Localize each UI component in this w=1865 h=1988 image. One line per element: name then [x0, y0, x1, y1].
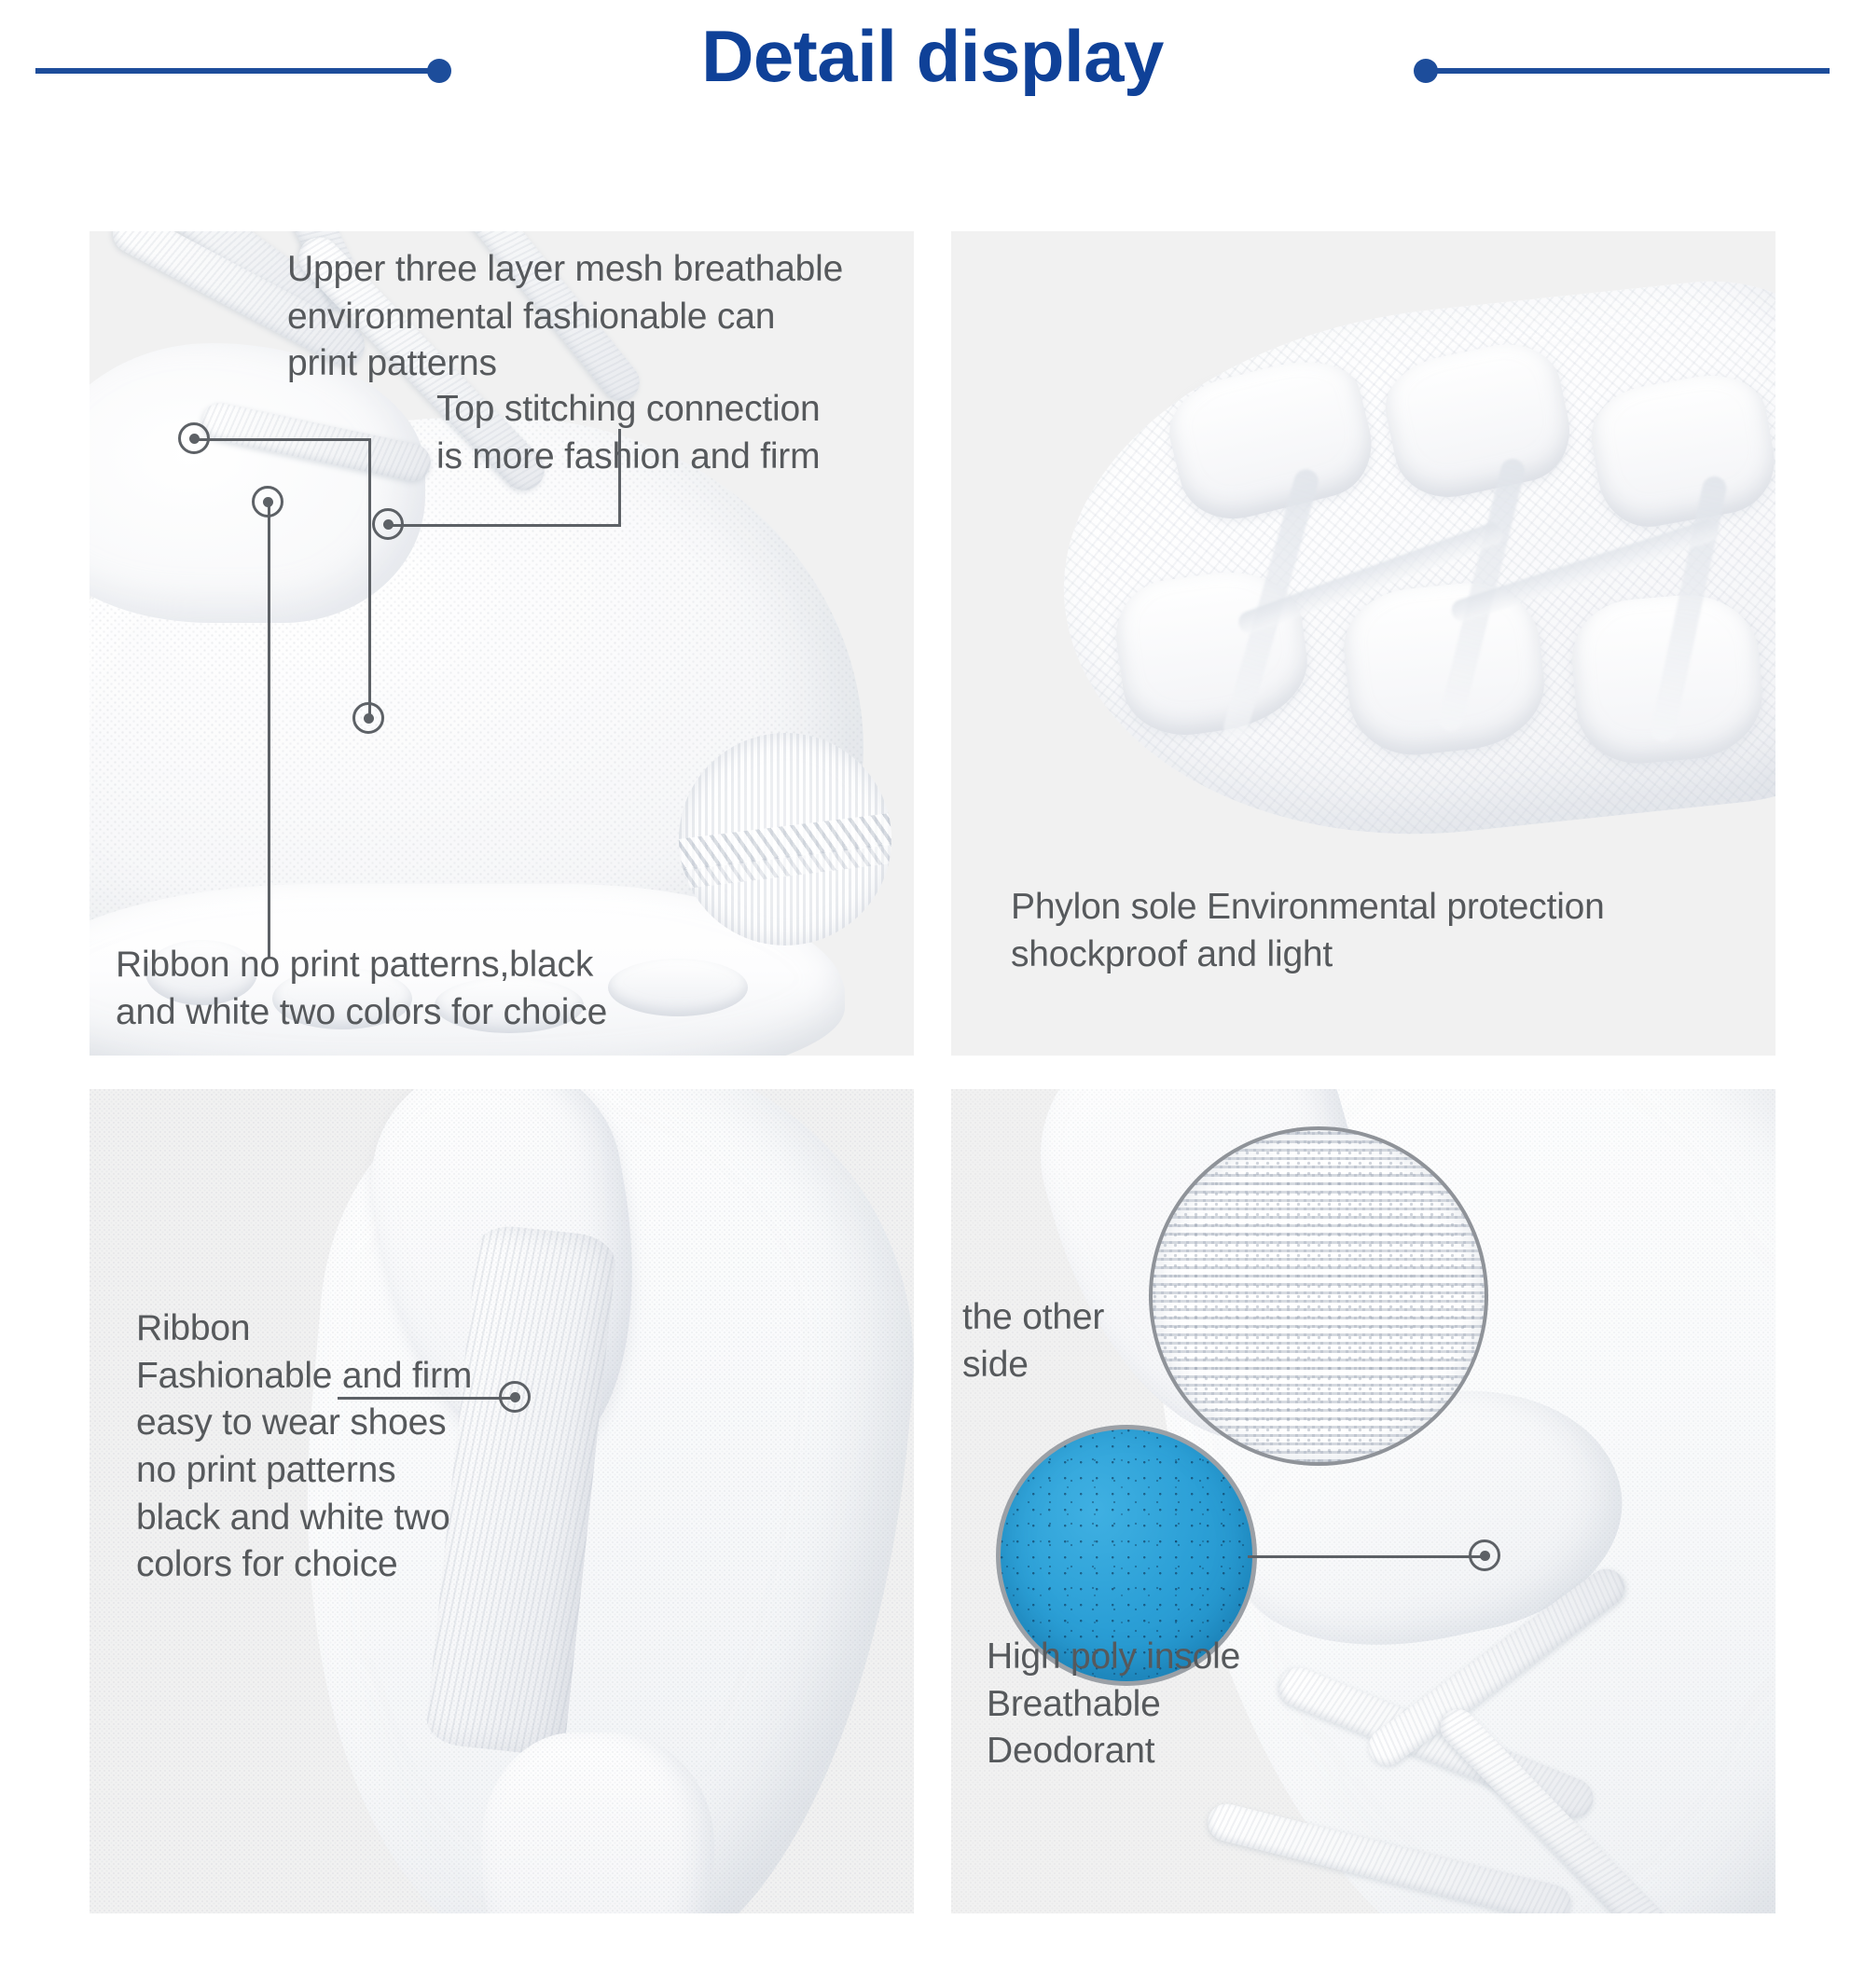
caption-high-poly-insole: High poly insole Breathable Deodorant	[987, 1634, 1378, 1775]
leader-line-stitch-h	[388, 524, 621, 527]
page-title: Detail display	[0, 17, 1865, 97]
panel-insole-mesh	[951, 1089, 1775, 1913]
stitching-zoom-circle	[679, 733, 891, 946]
callout-marker-stitch[interactable]	[372, 508, 404, 540]
callout-marker-upper[interactable]	[178, 422, 210, 454]
caption-other-side: the other side	[962, 1294, 1186, 1388]
callout-marker-upper-end[interactable]	[352, 702, 384, 734]
tongue-insole-photo	[951, 1089, 1775, 1913]
caption-ribbon-print: Ribbon no print patterns,black and white…	[116, 942, 824, 1036]
leader-line-ribbon-v	[268, 502, 270, 959]
caption-top-stitching: Top stitching connection is more fashion…	[436, 386, 903, 480]
caption-phylon-sole: Phylon sole Environmental protection sho…	[1011, 884, 1757, 978]
detail-display-page: Detail display	[0, 0, 1865, 1988]
leader-line-insole-h	[1248, 1555, 1481, 1558]
header-rule-right	[1425, 68, 1830, 74]
mesh-zoom-circle	[1149, 1126, 1488, 1466]
caption-ribbon-detail: Ribbon Fashionable and firm easy to wear…	[136, 1305, 565, 1589]
leader-line-upper-h	[194, 438, 371, 441]
callout-marker-insole[interactable]	[1469, 1539, 1500, 1571]
callout-marker-ribbon[interactable]	[252, 486, 283, 518]
caption-upper-mesh: Upper three layer mesh breathable enviro…	[287, 246, 903, 388]
leader-line-upper-v	[368, 438, 371, 718]
page-header: Detail display	[0, 0, 1865, 140]
